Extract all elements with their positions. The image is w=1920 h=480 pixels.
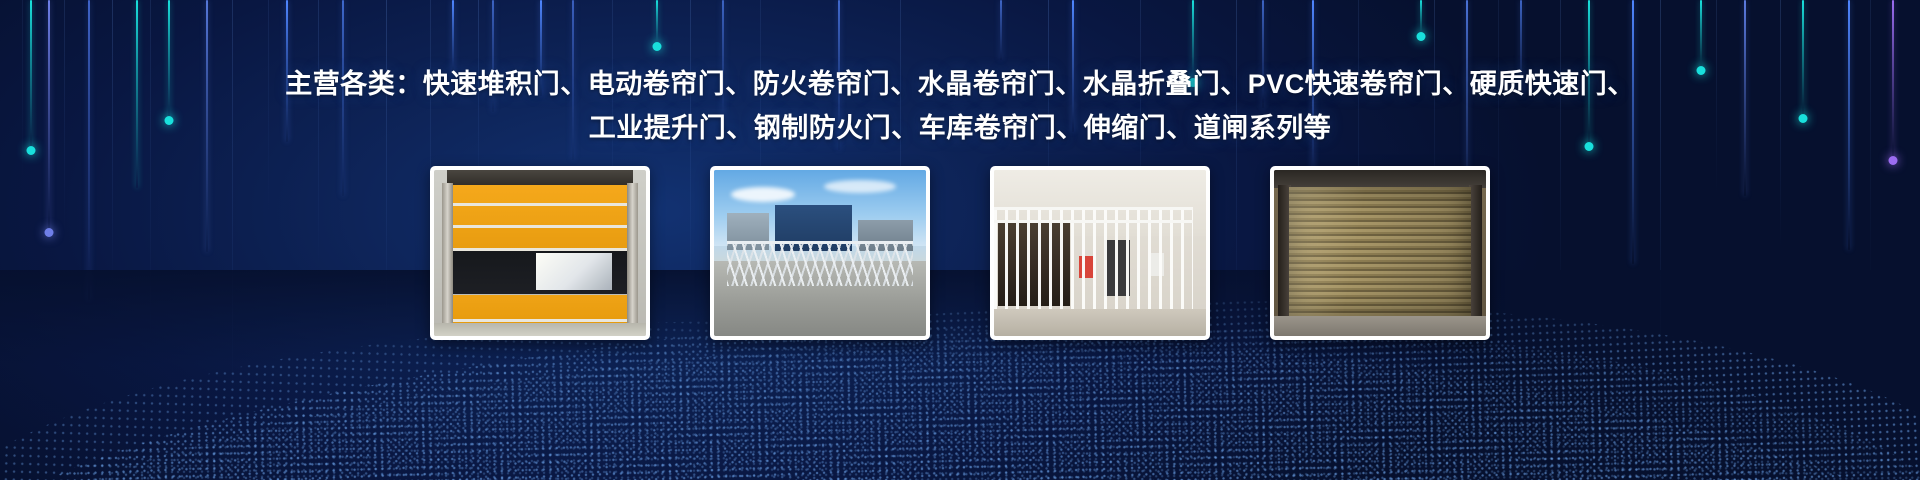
product-photo-strip [0,166,1920,340]
wave-line-3 [0,318,1920,480]
streak-dot-icon [1417,32,1426,41]
retractable-gate-image [714,170,926,336]
light-streak [656,0,658,46]
headline-line-1: 主营各类：快速堆积门、电动卷帘门、防火卷帘门、水晶卷帘门、水晶折叠门、PVC快速… [0,62,1920,106]
yellow-high-speed-door-image [434,170,646,336]
light-streak [1700,0,1702,70]
light-streak [1000,0,1002,60]
headline-line-2: 工业提升门、钢制防火门、车库卷帘门、伸缩门、道闸系列等 [0,106,1920,150]
light-streak [1420,0,1422,36]
promo-banner: 主营各类：快速堆积门、电动卷帘门、防火卷帘门、水晶卷帘门、水晶折叠门、PVC快速… [0,0,1920,480]
product-photo-3[interactable] [990,166,1210,340]
streak-dot-icon [1889,156,1898,165]
streak-dot-icon [653,42,662,51]
product-photo-4[interactable] [1270,166,1490,340]
banner-headline: 主营各类：快速堆积门、电动卷帘门、防火卷帘门、水晶卷帘门、水晶折叠门、PVC快速… [0,62,1920,150]
product-photo-2[interactable] [710,166,930,340]
bronze-rolling-shutter-image [1274,170,1486,336]
product-photo-1[interactable] [430,166,650,340]
white-folding-gate-image [994,170,1206,336]
